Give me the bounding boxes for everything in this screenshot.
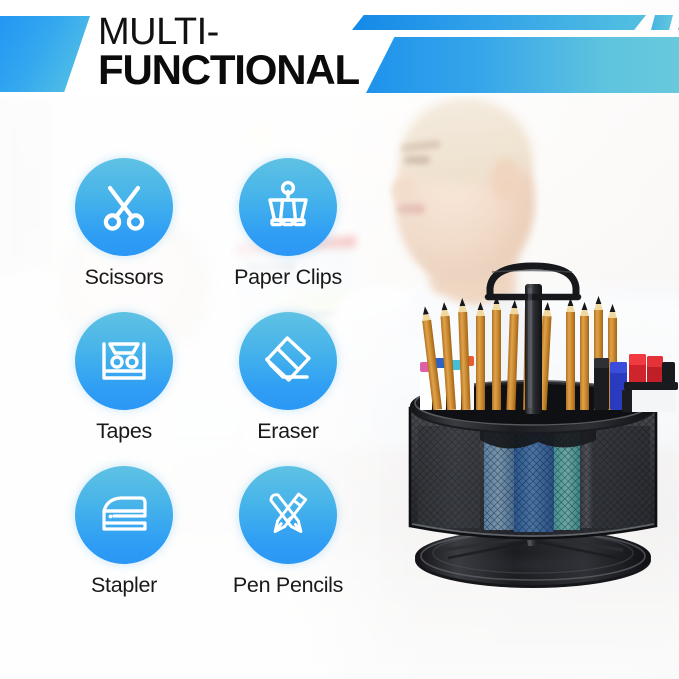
- feature-icon-badge: [239, 312, 337, 410]
- feature-label: Pen Pencils: [214, 573, 362, 598]
- feature-label: Scissors: [50, 265, 198, 290]
- scissors-icon: [96, 179, 152, 235]
- banner-thin-accent-bar: [352, 15, 646, 30]
- feature-icon-badge: [239, 158, 337, 256]
- desk-organizer-illustration: [388, 258, 679, 598]
- feature-label: Eraser: [214, 419, 362, 444]
- crossed-pens-icon: [259, 486, 317, 544]
- feature-item-eraser: Eraser: [214, 312, 362, 444]
- page-title-line-2: FUNCTIONAL: [98, 49, 359, 91]
- feature-icon-badge: [75, 466, 173, 564]
- product-image: [388, 258, 679, 598]
- header-banner: MULTI- FUNCTIONAL: [0, 0, 679, 96]
- product-shadow: [404, 550, 666, 580]
- banner-thick-accent-bar: [366, 37, 679, 93]
- product-feature-image: MULTI- FUNCTIONAL Scissors: [0, 0, 679, 679]
- feature-icon-badge: [75, 312, 173, 410]
- stapler-icon: [95, 486, 153, 544]
- feature-label: Stapler: [50, 573, 198, 598]
- feature-label: Tapes: [50, 419, 198, 444]
- page-title: MULTI- FUNCTIONAL: [98, 13, 359, 91]
- feature-list: Scissors Paper Clips: [50, 158, 360, 598]
- feature-item-stapler: Stapler: [50, 466, 198, 598]
- tape-dispenser-icon: [96, 333, 152, 389]
- feature-item-pen-pencils: Pen Pencils: [214, 466, 362, 598]
- eraser-icon: [259, 332, 317, 390]
- feature-label: Paper Clips: [214, 265, 362, 290]
- feature-icon-badge: [75, 158, 173, 256]
- feature-icon-badge: [239, 466, 337, 564]
- feature-item-scissors: Scissors: [50, 158, 198, 290]
- feature-item-paper-clips: Paper Clips: [214, 158, 362, 290]
- feature-item-tapes: Tapes: [50, 312, 198, 444]
- binder-clip-icon: [260, 179, 316, 235]
